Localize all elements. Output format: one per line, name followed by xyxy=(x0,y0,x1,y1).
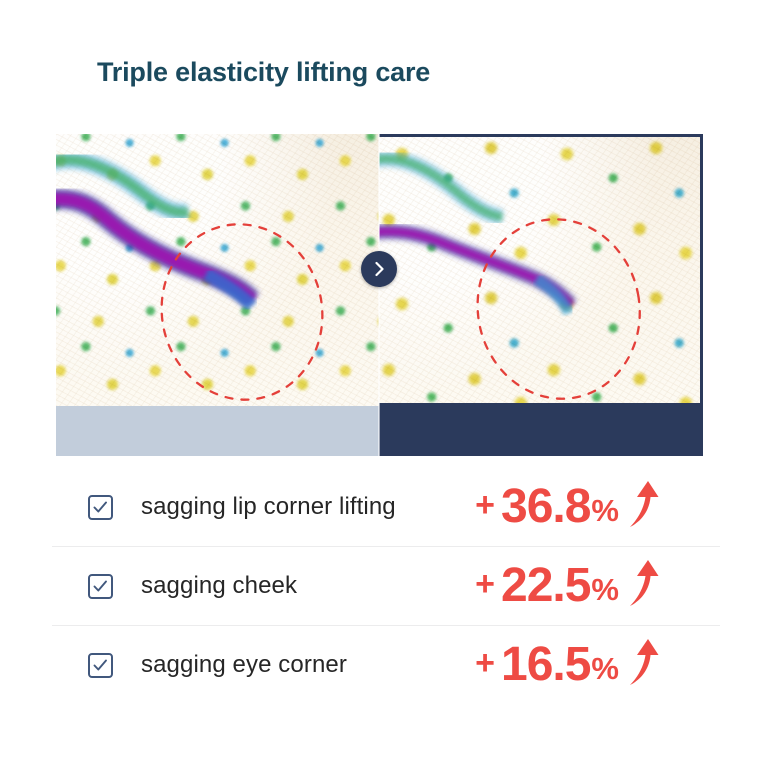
result-label: sagging lip corner lifting xyxy=(141,493,396,521)
comparison-divider-line xyxy=(378,134,380,456)
chevron-right-icon xyxy=(373,261,386,277)
after-wrinkle-overlay xyxy=(379,137,700,409)
arrow-up-icon xyxy=(626,480,660,528)
after-skin-image xyxy=(379,137,700,409)
after-caption-bar xyxy=(379,403,700,453)
result-row[interactable]: sagging cheek + 22.5 % xyxy=(52,547,720,626)
results-list: sagging lip corner lifting + 36.8 % sagg… xyxy=(52,468,720,704)
value-number: 16.5 xyxy=(501,641,590,689)
value-sign: + xyxy=(475,567,495,601)
before-panel xyxy=(56,134,379,456)
result-label: sagging eye corner xyxy=(141,651,347,679)
value-sign: + xyxy=(475,646,495,680)
page-title: Triple elasticity lifting care xyxy=(97,57,430,88)
result-value: + 36.8 % xyxy=(475,483,660,531)
before-wrinkle-overlay xyxy=(56,134,379,406)
result-value: + 22.5 % xyxy=(475,562,660,610)
after-panel xyxy=(379,134,703,456)
value-sign: + xyxy=(475,488,495,522)
value-unit: % xyxy=(591,495,619,526)
result-row[interactable]: sagging lip corner lifting + 36.8 % xyxy=(52,468,720,547)
before-after-comparison xyxy=(56,134,703,456)
checkbox-checked-icon[interactable] xyxy=(88,495,113,520)
result-row[interactable]: sagging eye corner + 16.5 % xyxy=(52,626,720,704)
checkbox-checked-icon[interactable] xyxy=(88,574,113,599)
before-caption-bar xyxy=(56,406,379,456)
result-label: sagging cheek xyxy=(141,572,297,600)
value-number: 36.8 xyxy=(501,483,590,531)
arrow-up-icon xyxy=(626,638,660,686)
value-unit: % xyxy=(591,574,619,605)
arrow-up-icon xyxy=(626,559,660,607)
value-number: 22.5 xyxy=(501,562,590,610)
checkbox-checked-icon[interactable] xyxy=(88,653,113,678)
result-value: + 16.5 % xyxy=(475,641,660,689)
before-skin-image xyxy=(56,134,379,406)
value-unit: % xyxy=(591,653,619,684)
comparison-slider-handle[interactable] xyxy=(361,251,397,287)
